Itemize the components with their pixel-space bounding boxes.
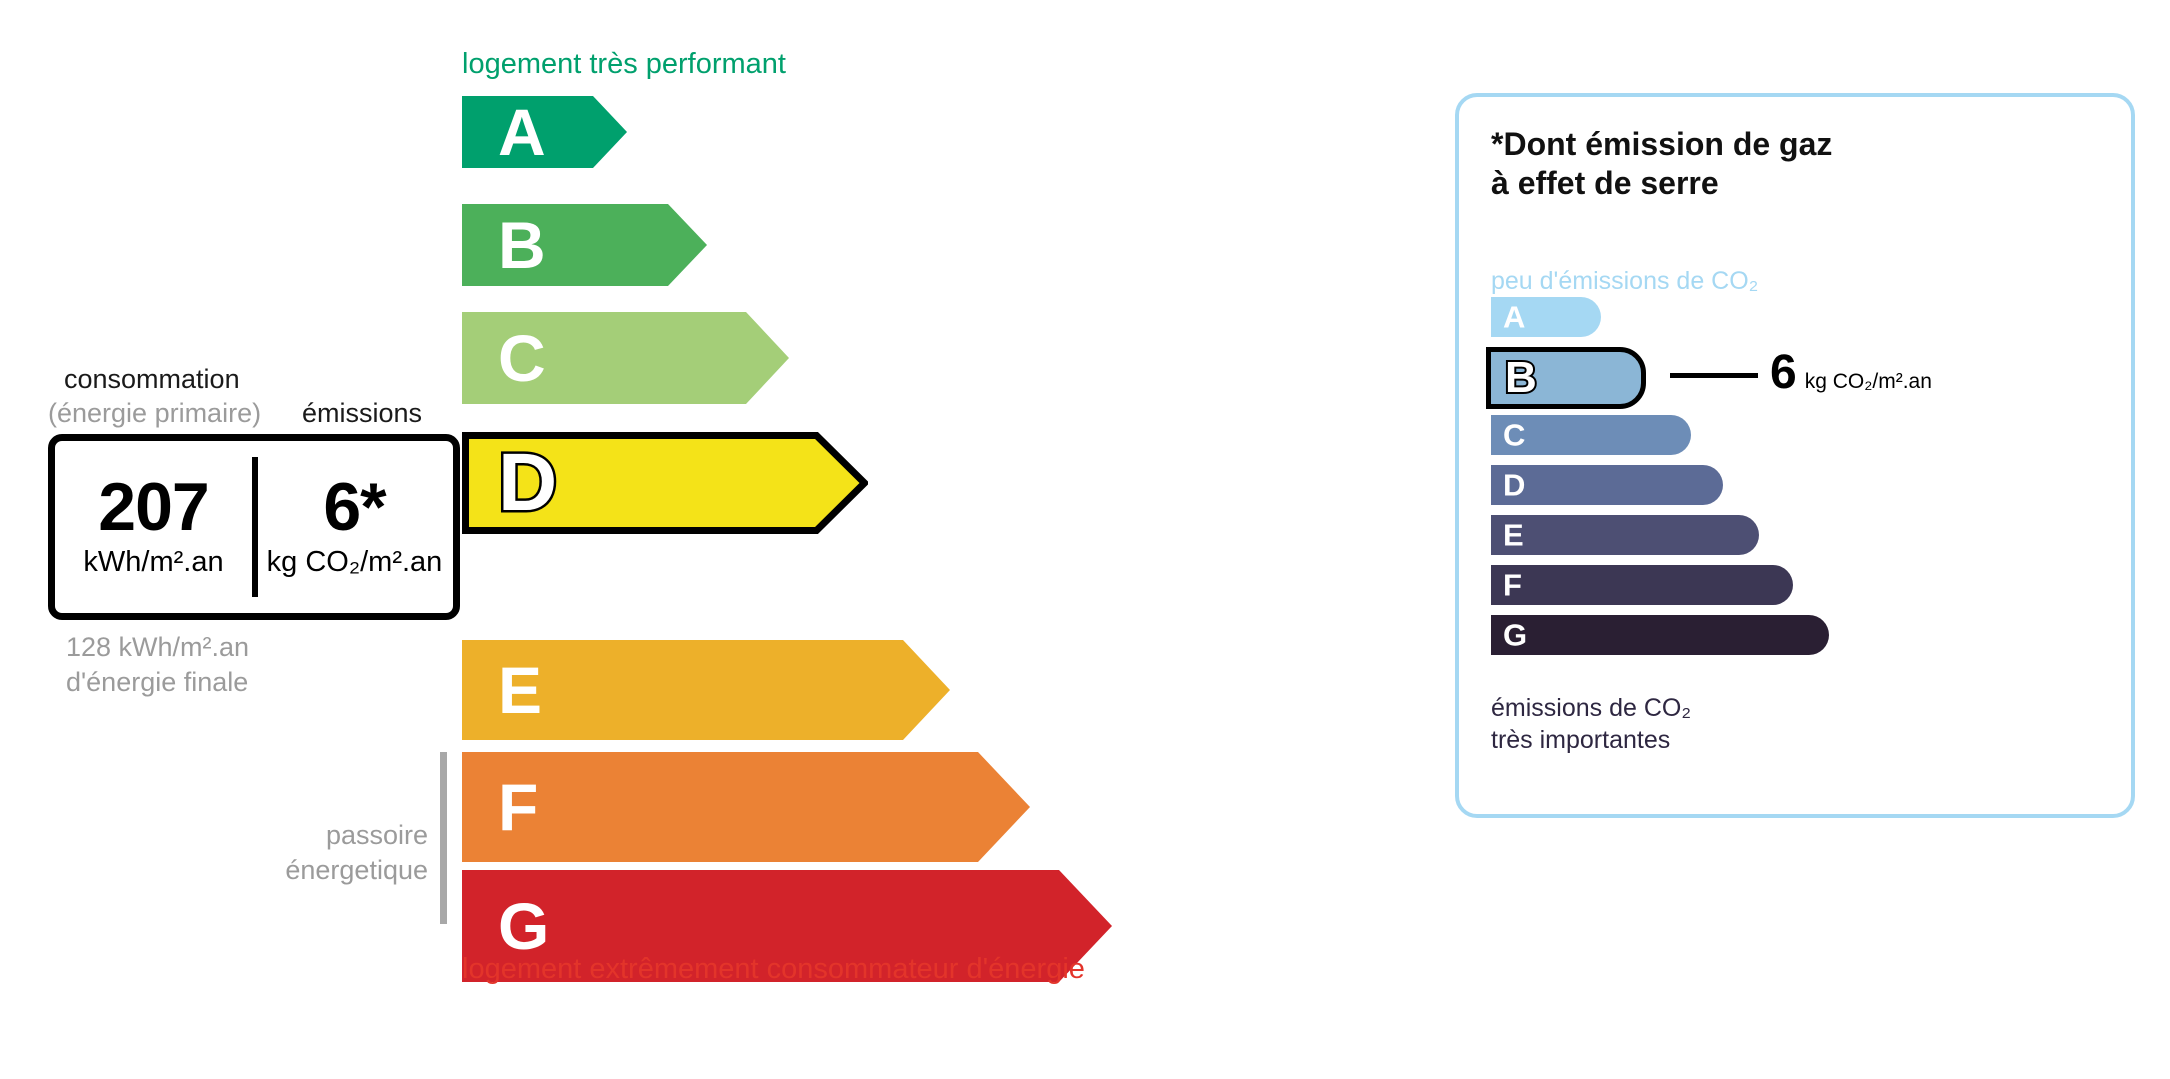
passoire-line-1: passoire [262, 818, 428, 853]
co2-panel-title: *Dont émission de gaz à effet de serre [1491, 125, 1832, 203]
energy-bar-shape-e [462, 640, 950, 740]
co2-bar-letter-c: C [1503, 420, 1525, 451]
co2-bar-letter-b: B [1505, 356, 1537, 400]
energy-bar-f: F [462, 752, 1030, 862]
co2-top-caption: peu d'émissions de CO₂ [1491, 267, 1758, 296]
energy-bar-shape-d [462, 432, 868, 534]
primary-energy-label: (énergie primaire) [48, 398, 261, 429]
emissions-label: émissions [302, 398, 422, 429]
final-energy-note: 128 kWh/m².an d'énergie finale [66, 630, 249, 699]
values-box: 207 kWh/m².an 6* kg CO₂/m².an [48, 434, 460, 620]
energy-bar-e: E [462, 640, 950, 740]
energy-bar-b: B [462, 204, 707, 286]
co2-bottom-line-2: très importantes [1491, 724, 1691, 756]
consumption-label: consommation [64, 364, 240, 395]
passoire-bracket [440, 752, 447, 924]
co2-emissions-panel: *Dont émission de gaz à effet de serre p… [1455, 93, 2135, 818]
co2-bar-d: D [1491, 465, 1723, 505]
final-energy-caption: d'énergie finale [66, 665, 249, 700]
co2-title-line-1: *Dont émission de gaz [1491, 125, 1832, 164]
dpe-energy-scale-panel: logement très performant ABCDEFG consomm… [0, 0, 1400, 1079]
energy-bar-a: A [462, 96, 627, 168]
co2-callout-leader-line [1670, 373, 1758, 378]
emission-unit: kg CO₂/m².an [267, 546, 443, 579]
emission-value: 6* [323, 475, 385, 540]
energy-bar-shape-c [462, 312, 789, 404]
co2-callout-unit: kg CO₂/m².an [1805, 370, 1932, 394]
co2-bottom-line-1: émissions de CO₂ [1491, 692, 1691, 724]
energy-bar-shape-b [462, 204, 707, 286]
co2-bar-a: A [1491, 297, 1601, 337]
consumption-value: 207 [98, 475, 208, 540]
co2-bar-letter-g: G [1503, 620, 1527, 651]
passoire-note: passoire énergetique [262, 818, 428, 887]
passoire-line-2: énergetique [262, 853, 428, 888]
emission-value-cell: 6* kg CO₂/m².an [256, 441, 453, 613]
co2-bar-letter-d: D [1503, 470, 1525, 501]
co2-bar-letter-a: A [1503, 302, 1525, 333]
co2-callout: 6kg CO₂/m².an [1770, 349, 1932, 397]
co2-bar-e: E [1491, 515, 1759, 555]
energy-bar-shape-f [462, 752, 1030, 862]
co2-bar-letter-e: E [1503, 520, 1524, 551]
co2-bar-f: F [1491, 565, 1793, 605]
energy-bar-d: D [462, 432, 868, 534]
co2-title-line-2: à effet de serre [1491, 164, 1832, 203]
co2-bottom-caption: émissions de CO₂ très importantes [1491, 692, 1691, 756]
co2-bar-g: G [1491, 615, 1829, 655]
co2-bar-letter-f: F [1503, 570, 1522, 601]
co2-bar-c: C [1491, 415, 1691, 455]
energy-bar-shape-a [462, 96, 627, 168]
energy-bar-c: C [462, 312, 789, 404]
scale-bottom-caption: logement extrêmement consommateur d'éner… [462, 953, 1085, 986]
co2-callout-value: 6 [1770, 349, 1797, 397]
co2-bar-b: B [1486, 347, 1646, 409]
final-energy-value: 128 kWh/m².an [66, 630, 249, 665]
consumption-unit: kWh/m².an [83, 546, 223, 579]
scale-top-caption: logement très performant [462, 48, 786, 81]
consumption-value-cell: 207 kWh/m².an [55, 441, 252, 613]
